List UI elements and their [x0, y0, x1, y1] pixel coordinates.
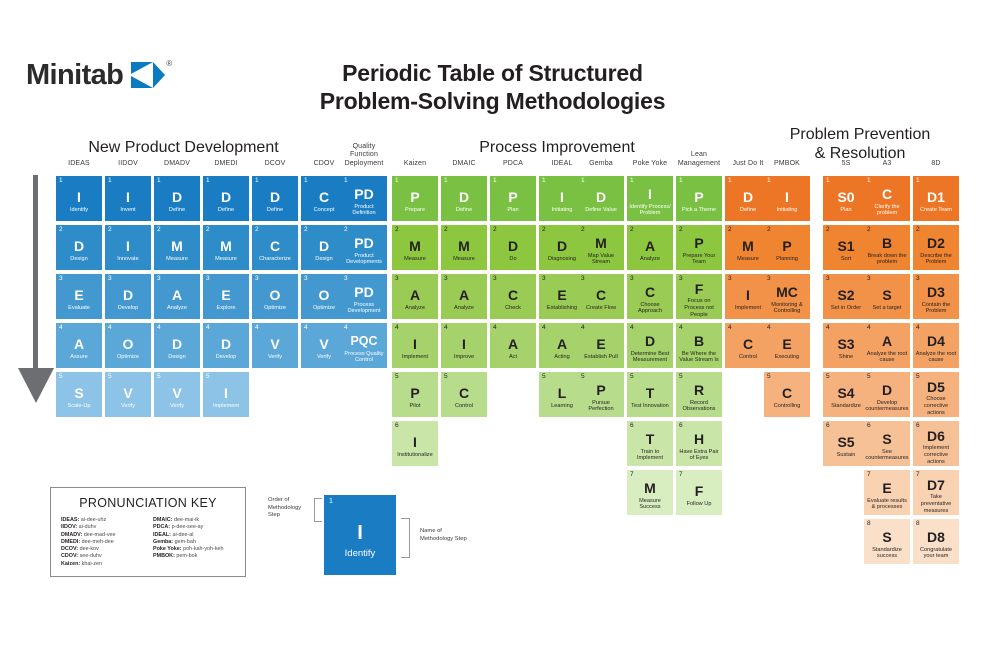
cell-symbol: I: [126, 239, 130, 254]
cell-symbol: PQC: [350, 334, 377, 349]
cell-pmbok-4[interactable]: 4EExecuting: [764, 323, 810, 368]
minitab-logo: Minitab ®: [26, 58, 172, 92]
cell-step-name: Do: [509, 256, 516, 263]
cell-symbol: D: [459, 190, 469, 205]
cell-dmadv-2[interactable]: 2MMeasure: [154, 225, 200, 270]
cell-symbol: I: [224, 386, 228, 401]
cell-symbol: D6: [927, 429, 945, 444]
cell-step-number: 4: [826, 324, 830, 332]
group-heading-new-product-development: New Product Development: [55, 138, 312, 157]
pronunciation-row-left-5: CDOV: see-duhv: [61, 553, 143, 560]
cell-step-number: 1: [916, 177, 920, 185]
cell-symbol: I: [413, 337, 417, 352]
cell-lean-management-3[interactable]: 3FFocus on Process not People: [676, 274, 722, 319]
cell-step-number: 5: [395, 373, 399, 381]
cell-symbol: A: [410, 288, 420, 303]
cell-iidov-1[interactable]: 1IInvent: [105, 176, 151, 221]
cell-symbol: PD: [354, 187, 373, 202]
cell-symbol: I: [560, 190, 564, 205]
cell-pdca-3[interactable]: 3CCheck: [490, 274, 536, 319]
cell-step-name: Explore: [217, 305, 236, 312]
cell-symbol: A: [172, 288, 182, 303]
pronunciation-row-right-0: DMAIC: dee-mai-ik: [153, 517, 235, 524]
cell-step-number: 1: [542, 177, 546, 185]
cell-step-name: Plan: [507, 207, 518, 214]
cell-step-name: Implement corrective actions: [915, 445, 957, 465]
cell-step-number: 1: [826, 177, 830, 185]
cell-kaizen-3[interactable]: 3AAnalyze: [392, 274, 438, 319]
cell-step-number: 1: [867, 177, 871, 185]
cell-step-number: 4: [767, 324, 771, 332]
cell-lean-management-5[interactable]: 5RRecord Observations: [676, 372, 722, 417]
cell-step-name: Evaluate: [68, 305, 90, 312]
cell-step-name: Define: [267, 207, 283, 214]
cell-8d-1[interactable]: 1D1Create Team: [913, 176, 959, 221]
cell-symbol: E: [74, 288, 83, 303]
cell-dmadv-3[interactable]: 3AAnalyze: [154, 274, 200, 319]
cell-step-name: Measure Success: [629, 498, 671, 511]
cell-step-name: Map Value Stream: [580, 253, 622, 266]
cell-poke-yoke-6[interactable]: 6TTrain to Implement: [627, 421, 673, 466]
cell-step-number: 7: [630, 471, 634, 479]
cell-step-number: 3: [108, 275, 112, 283]
cell-step-number: 1: [304, 177, 308, 185]
cell-step-name: Process Quality Control: [343, 351, 385, 364]
cell-symbol: I: [648, 187, 652, 202]
cell-step-name: Establish Pull: [584, 354, 618, 361]
cell-step-name: Controlling: [774, 403, 801, 410]
cell-8d-6[interactable]: 6D6Implement corrective actions: [913, 421, 959, 466]
cell-step-number: 5: [767, 373, 771, 381]
cell-step-number: 4: [493, 324, 497, 332]
cell-8d-4[interactable]: 4D4Analyze the root cause: [913, 323, 959, 368]
legend-example-number: 1: [329, 498, 333, 505]
cell-symbol: D: [123, 288, 133, 303]
cell-step-number: 1: [59, 177, 63, 185]
cell-poke-yoke-2[interactable]: 2AAnalyze: [627, 225, 673, 270]
cell-8d-3[interactable]: 3D3Contain the Problem: [913, 274, 959, 319]
pronunciation-say: dee-mad-vee: [82, 532, 115, 538]
cell-qfd-1[interactable]: 1PDProduct Definition: [341, 176, 387, 221]
cell-step-name: Analyze the root cause: [866, 351, 908, 364]
legend-example-cell: 1 I Identify: [324, 495, 396, 575]
cell-symbol: E: [557, 288, 566, 303]
cell-step-number: 3: [728, 275, 732, 283]
cell-iidov-5[interactable]: 5VVerify: [105, 372, 151, 417]
cell-gemba-4[interactable]: 4EEstablish Pull: [578, 323, 624, 368]
cell-step-name: Assure: [70, 354, 87, 361]
cell-symbol: S1: [837, 239, 854, 254]
cell-step-number: 3: [255, 275, 259, 283]
cell-step-name: Implement: [402, 354, 428, 361]
cell-lean-management-1[interactable]: 1PPick a Theme: [676, 176, 722, 221]
cell-step-number: 2: [444, 226, 448, 234]
cell-dmedi-3[interactable]: 3EExplore: [203, 274, 249, 319]
column-header-line: Function: [331, 151, 397, 160]
cell-kaizen-1[interactable]: 1PPrepare: [392, 176, 438, 221]
cell-symbol: M: [742, 239, 754, 254]
cell-kaizen-2[interactable]: 2MMeasure: [392, 225, 438, 270]
cell-qfd-3[interactable]: 3PDProcess Development: [341, 274, 387, 319]
cell-step-name: Prepare: [405, 207, 425, 214]
cell-step-name: Choose Approach: [629, 302, 671, 315]
cell-a3-6[interactable]: 6SSee countermeasures: [864, 421, 910, 466]
pronunciation-row-left-6: Kaizen: khai-zen: [61, 561, 143, 568]
cell-symbol: D: [645, 334, 655, 349]
cell-step-number: 2: [493, 226, 497, 234]
cell-8d-5[interactable]: 5D5Choose corrective actions: [913, 372, 959, 417]
cell-step-number: 6: [395, 422, 399, 430]
pronunciation-term: IIDOV:: [61, 524, 77, 530]
cell-8d-8[interactable]: 8D8Congratulate your team: [913, 519, 959, 564]
cell-symbol: MC: [776, 285, 798, 300]
cell-step-name: Verify: [121, 403, 135, 410]
cell-step-number: 1: [728, 177, 732, 185]
cell-step-name: Define: [740, 207, 756, 214]
cell-dcov-2[interactable]: 2CCharacterize: [252, 225, 298, 270]
cell-step-number: 6: [916, 422, 920, 430]
legend-example-name: Identify: [345, 548, 376, 559]
cell-step-number: 2: [304, 226, 308, 234]
cell-a3-1[interactable]: 1CClarify the problem: [864, 176, 910, 221]
cell-poke-yoke-7[interactable]: 7MMeasure Success: [627, 470, 673, 515]
cell-8d-7[interactable]: 7D7Take preventative measures: [913, 470, 959, 515]
cell-dmedi-5[interactable]: 5IImplement: [203, 372, 249, 417]
cell-iidov-3[interactable]: 3DDevelop: [105, 274, 151, 319]
cell-step-name: Record Observations: [678, 400, 720, 413]
pronunciation-say: p-dee-see-ay: [170, 524, 203, 530]
pronunciation-say: ai-dee-uhz: [79, 517, 106, 523]
cell-step-number: 5: [581, 373, 585, 381]
cell-5s-6[interactable]: 6S5Sustain: [823, 421, 869, 466]
cell-step-name: Analyze the root cause: [915, 351, 957, 364]
cell-pmbok-1[interactable]: 1IInitiating: [764, 176, 810, 221]
cell-step-number: 4: [395, 324, 399, 332]
cell-symbol: D7: [927, 478, 945, 493]
cell-step-name: Monitoring & Controlling: [766, 302, 808, 315]
cell-symbol: S3: [837, 337, 854, 352]
cell-step-number: 2: [157, 226, 161, 234]
cell-poke-yoke-1[interactable]: 1IIdentify Process/ Problem: [627, 176, 673, 221]
cell-step-name: Process Development: [343, 302, 385, 315]
pronunciation-say: dee-kov: [78, 546, 99, 552]
cell-step-number: 4: [59, 324, 63, 332]
cell-step-name: Congratulate your team: [915, 547, 957, 560]
cell-step-name: Focus on Process not People: [678, 298, 720, 318]
cell-step-number: 2: [916, 226, 920, 234]
cell-step-name: Verify: [317, 354, 331, 361]
cell-5s-3[interactable]: 3S2Set in Order: [823, 274, 869, 319]
cell-poke-yoke-3[interactable]: 3CChoose Approach: [627, 274, 673, 319]
cell-step-name: Plan: [840, 207, 851, 214]
cell-iidov-2[interactable]: 2IInnovate: [105, 225, 151, 270]
cell-step-number: 3: [344, 275, 348, 283]
cell-symbol: D5: [927, 380, 945, 395]
cell-pmbok-2[interactable]: 2PPlanning: [764, 225, 810, 270]
pronunciation-term: CDOV:: [61, 553, 78, 559]
cell-symbol: O: [319, 288, 330, 303]
cell-step-number: 3: [826, 275, 830, 283]
cell-step-number: 4: [344, 324, 348, 332]
cell-step-number: 8: [916, 520, 920, 528]
cell-gemba-5[interactable]: 5PPursue Perfection: [578, 372, 624, 417]
cell-step-name: Develop: [118, 305, 139, 312]
cell-step-number: 6: [630, 422, 634, 430]
legend-right-bracket: [401, 518, 410, 558]
cell-symbol: D: [270, 190, 280, 205]
cell-step-name: Product Developments: [343, 253, 385, 266]
cell-pmbok-3[interactable]: 3MCMonitoring & Controlling: [764, 274, 810, 319]
cell-symbol: M: [171, 239, 183, 254]
cell-symbol: A: [882, 334, 892, 349]
cell-kaizen-5[interactable]: 5PPilot: [392, 372, 438, 417]
cell-ideas-2[interactable]: 2DDesign: [56, 225, 102, 270]
cell-symbol: D: [221, 337, 231, 352]
cell-symbol: M: [595, 236, 607, 251]
cell-step-name: Define: [218, 207, 234, 214]
cell-dmedi-1[interactable]: 1DDefine: [203, 176, 249, 221]
cell-symbol: S5: [837, 435, 854, 450]
cell-a3-2[interactable]: 2BBreak down the problem: [864, 225, 910, 270]
cell-step-name: Train to Implement: [629, 449, 671, 462]
cell-symbol: V: [172, 386, 181, 401]
cell-5s-1[interactable]: 1S0Plan: [823, 176, 869, 221]
cell-step-number: 6: [826, 422, 830, 430]
cell-pmbok-5[interactable]: 5CControlling: [764, 372, 810, 417]
cell-step-name: Innovate: [117, 256, 138, 263]
cell-symbol: I: [785, 190, 789, 205]
cell-step-name: Create Team: [920, 207, 952, 214]
cell-symbol: C: [596, 288, 606, 303]
cell-iidov-4[interactable]: 4OOptimize: [105, 323, 151, 368]
cell-step-name: Define Value: [585, 207, 617, 214]
cell-step-name: Define: [169, 207, 185, 214]
cell-5s-5[interactable]: 5S4Standardize: [823, 372, 869, 417]
column-header-line: 8D: [903, 160, 969, 169]
cell-lean-management-4[interactable]: 4BBe Where the Value Stream Is: [676, 323, 722, 368]
cell-step-number: 5: [542, 373, 546, 381]
cell-dcov-3[interactable]: 3OOptimize: [252, 274, 298, 319]
cell-qfd-4[interactable]: 4PQCProcess Quality Control: [341, 323, 387, 368]
pronunciation-key-panel: PRONUNCIATION KEY IDEAS: ai-dee-uhzIIDOV…: [50, 487, 246, 577]
cell-dmedi-4[interactable]: 4DDevelop: [203, 323, 249, 368]
cell-step-number: 4: [630, 324, 634, 332]
cell-a3-3[interactable]: 3SSet a target: [864, 274, 910, 319]
cell-step-name: Analyze: [167, 305, 187, 312]
cell-pdca-1[interactable]: 1PPlan: [490, 176, 536, 221]
cell-symbol: O: [270, 288, 281, 303]
cell-ideas-1[interactable]: 1IIdentify: [56, 176, 102, 221]
cell-step-number: 5: [867, 373, 871, 381]
cell-symbol: A: [557, 337, 567, 352]
pronunciation-row-left-2: DMADV: dee-mad-vee: [61, 532, 143, 539]
cell-dmaic-1[interactable]: 1DDefine: [441, 176, 487, 221]
cell-step-number: 2: [108, 226, 112, 234]
cell-step-name: Prepare Your Team: [678, 253, 720, 266]
pronunciation-row-left-0: IDEAS: ai-dee-uhz: [61, 517, 143, 524]
cell-symbol: E: [882, 481, 891, 496]
cell-dcov-4[interactable]: 4VVerify: [252, 323, 298, 368]
cell-a3-5[interactable]: 5DDevelop countermeasures: [864, 372, 910, 417]
cell-step-number: 2: [255, 226, 259, 234]
cell-poke-yoke-5[interactable]: 5TTest Innovation: [627, 372, 673, 417]
cell-lean-management-7[interactable]: 7FFollow Up: [676, 470, 722, 515]
pronunciation-say: khai-zen: [80, 561, 102, 567]
cell-poke-yoke-4[interactable]: 4DDetermine Best Measurement: [627, 323, 673, 368]
pronunciation-key-column-left: IDEAS: ai-dee-uhzIIDOV: ai-duhvDMADV: de…: [61, 517, 143, 568]
pronunciation-row-right-1: PDCA: p-dee-see-ay: [153, 524, 235, 531]
sequence-down-arrow-icon: [16, 175, 56, 408]
cell-step-number: 1: [581, 177, 585, 185]
cell-step-name: Implement: [735, 305, 761, 312]
cell-a3-8[interactable]: 8SStandardize success: [864, 519, 910, 564]
pronunciation-say: ai-duhv: [77, 524, 96, 530]
cell-step-name: Sustain: [837, 452, 856, 459]
cell-step-number: 5: [157, 373, 161, 381]
cell-step-number: 6: [867, 422, 871, 430]
cell-step-name: Be Where the Value Stream Is: [678, 351, 720, 364]
cell-step-number: 3: [493, 275, 497, 283]
cell-pdca-4[interactable]: 4AAct: [490, 323, 536, 368]
cell-step-number: 2: [542, 226, 546, 234]
cell-dmadv-5[interactable]: 5VVerify: [154, 372, 200, 417]
cell-step-number: 5: [206, 373, 210, 381]
cell-5s-2[interactable]: 2S1Sort: [823, 225, 869, 270]
cell-step-number: 3: [542, 275, 546, 283]
cell-qfd-2[interactable]: 2PDProduct Developments: [341, 225, 387, 270]
cell-symbol: D: [172, 190, 182, 205]
cell-step-name: Develop: [216, 354, 237, 361]
cell-dmedi-2[interactable]: 2MMeasure: [203, 225, 249, 270]
cell-step-number: 2: [867, 226, 871, 234]
cell-step-number: 4: [444, 324, 448, 332]
cell-ideas-5[interactable]: 5SScale-Up: [56, 372, 102, 417]
pronunciation-term: DMAIC:: [153, 517, 172, 523]
cell-step-number: 3: [581, 275, 585, 283]
cell-lean-management-2[interactable]: 2PPrepare Your Team: [676, 225, 722, 270]
cell-dmaic-4[interactable]: 4IImprove: [441, 323, 487, 368]
cell-symbol: M: [409, 239, 421, 254]
cell-symbol: M: [644, 481, 656, 496]
cell-symbol: I: [77, 190, 81, 205]
cell-step-name: Analyze: [454, 305, 474, 312]
cell-step-name: Institutionalize: [397, 452, 432, 459]
cell-step-name: Control: [739, 354, 757, 361]
cell-step-name: Describe the Problem: [915, 253, 957, 266]
cell-step-name: Analyze: [640, 256, 660, 263]
cell-symbol: D: [172, 337, 182, 352]
cell-step-name: Evaluate results & processes: [866, 498, 908, 511]
cell-symbol: C: [270, 239, 280, 254]
cell-step-number: 1: [344, 177, 348, 185]
cell-step-name: Initiating: [777, 207, 798, 214]
cell-step-number: 1: [679, 177, 683, 185]
cell-step-name: Measure: [404, 256, 426, 263]
cell-step-name: Acting: [554, 354, 570, 361]
cell-8d-2[interactable]: 2D2Describe the Problem: [913, 225, 959, 270]
cell-step-name: Planning: [776, 256, 798, 263]
cell-gemba-1[interactable]: 1DDefine Value: [578, 176, 624, 221]
cell-step-name: Establishing: [547, 305, 577, 312]
cell-symbol: P: [694, 236, 703, 251]
pronunciation-say: see-duhv: [78, 553, 102, 559]
cell-a3-4[interactable]: 4AAnalyze the root cause: [864, 323, 910, 368]
pronunciation-term: PDCA:: [153, 524, 170, 530]
cell-step-number: 2: [581, 226, 585, 234]
pronunciation-row-right-3: Gemba: gem-bah: [153, 539, 235, 546]
cell-symbol: S4: [837, 386, 854, 401]
cell-gemba-2[interactable]: 2MMap Value Stream: [578, 225, 624, 270]
cell-step-name: See countermeasures: [865, 449, 908, 462]
cell-step-number: 3: [206, 275, 210, 283]
cell-step-number: 2: [59, 226, 63, 234]
cell-symbol: E: [221, 288, 230, 303]
cell-step-name: Pursue Perfection: [580, 400, 622, 413]
pronunciation-row-left-3: DMEDI: dee-meh-dee: [61, 539, 143, 546]
cell-dmadv-1[interactable]: 1DDefine: [154, 176, 200, 221]
page-title-line-2: Problem-Solving Methodologies: [0, 88, 985, 115]
cell-symbol: F: [695, 282, 704, 297]
cell-symbol: I: [126, 190, 130, 205]
cell-gemba-3[interactable]: 3CCreate Flow: [578, 274, 624, 319]
legend-diagram: Order of Methodology Step 1 I Identify N…: [268, 492, 488, 578]
pronunciation-term: IDEAS:: [61, 517, 79, 523]
cell-step-number: 8: [867, 520, 871, 528]
column-header-line: Quality: [331, 143, 397, 152]
cell-symbol: C: [645, 285, 655, 300]
cell-symbol: C: [319, 190, 329, 205]
cell-step-name: Design: [70, 256, 87, 263]
cell-dmadv-4[interactable]: 4DDesign: [154, 323, 200, 368]
cell-dmaic-3[interactable]: 3AAnalyze: [441, 274, 487, 319]
cell-step-name: Measure: [166, 256, 188, 263]
cell-ideas-3[interactable]: 3EEvaluate: [56, 274, 102, 319]
cell-step-number: 1: [206, 177, 210, 185]
pronunciation-term: Kaizen:: [61, 561, 80, 567]
cell-pdca-2[interactable]: 2DDo: [490, 225, 536, 270]
cell-step-number: 1: [444, 177, 448, 185]
pronunciation-term: DMEDI:: [61, 539, 80, 545]
cell-symbol: E: [782, 337, 791, 352]
cell-step-number: 1: [630, 177, 634, 185]
cell-step-name: Pick a Theme: [682, 207, 716, 214]
cell-5s-4[interactable]: 4S3Shine: [823, 323, 869, 368]
cell-step-name: Learning: [551, 403, 573, 410]
cell-step-name: Shine: [839, 354, 853, 361]
cell-dcov-1[interactable]: 1DDefine: [252, 176, 298, 221]
cell-dmaic-5[interactable]: 5CControl: [441, 372, 487, 417]
cell-symbol: S2: [837, 288, 854, 303]
cell-step-name: Contain the Problem: [915, 302, 957, 315]
cell-symbol: D: [319, 239, 329, 254]
cell-step-name: Verify: [268, 354, 282, 361]
cell-a3-7[interactable]: 7EEvaluate results & processes: [864, 470, 910, 515]
cell-dmaic-2[interactable]: 2MMeasure: [441, 225, 487, 270]
cell-step-name: Verify: [170, 403, 184, 410]
cell-step-number: 7: [916, 471, 920, 479]
cell-step-name: Optimize: [264, 305, 286, 312]
registered-trademark-icon: ®: [166, 59, 172, 68]
cell-step-name: Analyze: [405, 305, 425, 312]
cell-step-name: Follow Up: [687, 501, 712, 508]
pronunciation-row-right-5: PMBOK: pem-bok: [153, 553, 235, 560]
cell-lean-management-6[interactable]: 6HHave Extra Pair of Eyes: [676, 421, 722, 466]
pronunciation-term: PMBOK:: [153, 553, 175, 559]
cell-kaizen-6[interactable]: 6IInstitutionalize: [392, 421, 438, 466]
group-heading-ppr-line-1: Problem Prevention: [740, 125, 980, 144]
cell-ideas-4[interactable]: 4AAssure: [56, 323, 102, 368]
cell-kaizen-4[interactable]: 4IImplement: [392, 323, 438, 368]
